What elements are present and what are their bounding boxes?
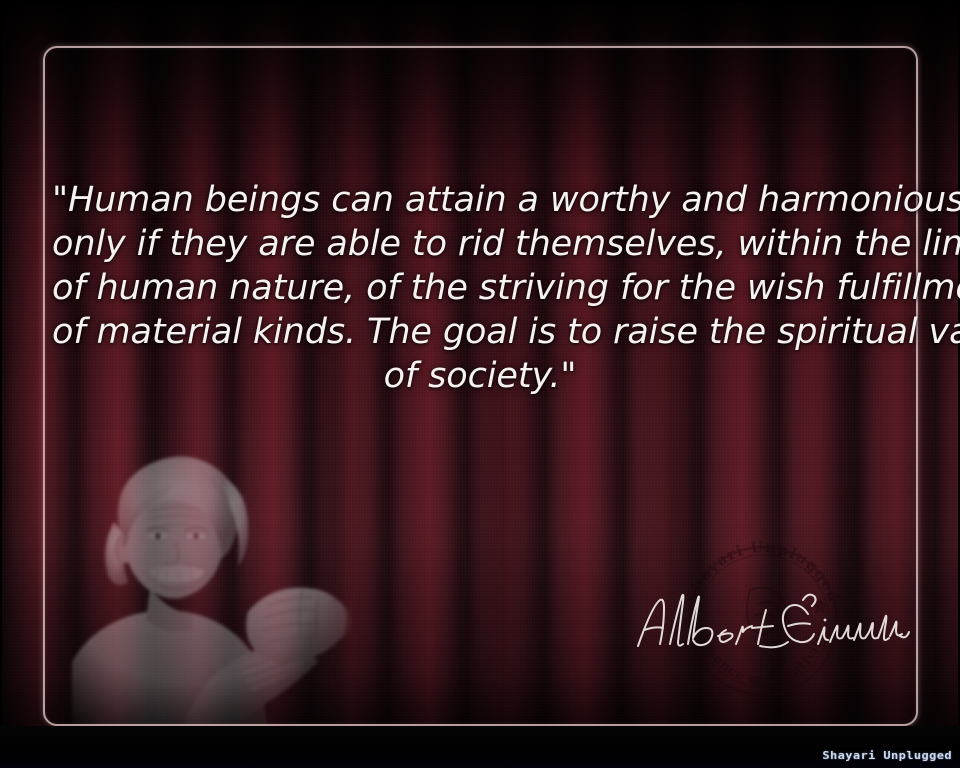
quote-text: "Human beings can attain a worthy and ha… — [52, 178, 908, 398]
credit-watermark: Shayari Unplugged — [822, 749, 952, 762]
bottom-black-band — [0, 726, 960, 768]
einstein-portrait — [62, 430, 362, 730]
quote-card: Shayari Unplugged Essence of creativity — [0, 0, 960, 768]
quote-line-3: of human nature, of the striving for the… — [52, 266, 908, 310]
quote-line-2: only if they are able to rid themselves,… — [52, 222, 908, 266]
quote-line-1: "Human beings can attain a worthy and ha… — [52, 178, 908, 222]
quote-line-5: of society." — [52, 354, 908, 398]
einstein-signature — [632, 588, 910, 666]
quote-line-4: of material kinds. The goal is to raise … — [52, 310, 908, 354]
